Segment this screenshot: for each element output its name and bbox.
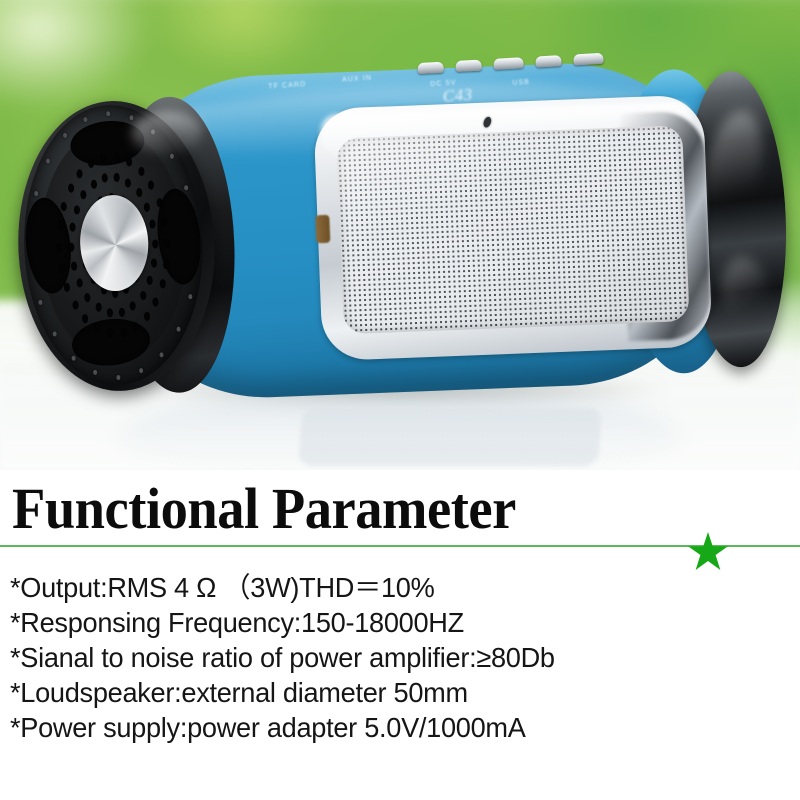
bluetooth-speaker: TF CARD AUX IN DC 5V USB C43 bbox=[12, 47, 792, 416]
power-button[interactable] bbox=[417, 62, 444, 74]
play-pause-button[interactable] bbox=[535, 55, 562, 67]
mode-button[interactable] bbox=[455, 60, 482, 72]
product-spec-page: TF CARD AUX IN DC 5V USB C43 Functional … bbox=[0, 0, 800, 800]
port-label-usb: USB bbox=[512, 79, 530, 87]
speaker-grille-reflection bbox=[298, 408, 602, 466]
spec-line-power: *Power supply:power adapter 5.0V/1000mA bbox=[10, 710, 767, 745]
spec-line-output: *Output:RMS 4 Ω （3W)THD＝10% bbox=[10, 570, 767, 605]
spec-line-frequency: *Responsing Frequency:150-18000HZ bbox=[10, 605, 767, 640]
spec-list: *Output:RMS 4 Ω （3W)THD＝10% *Responsing … bbox=[10, 570, 790, 745]
spec-line-loudspeaker: *Loudspeaker:external diameter 50mm bbox=[10, 675, 767, 710]
product-photo: TF CARD AUX IN DC 5V USB C43 bbox=[0, 0, 800, 470]
perforated-grille bbox=[336, 125, 689, 334]
star-icon bbox=[688, 532, 728, 572]
spec-line-snr: *Sianal to noise ratio of power amplifie… bbox=[10, 640, 767, 675]
side-port bbox=[315, 215, 330, 244]
page-title: Functional Parameter bbox=[12, 480, 516, 538]
title-underline bbox=[0, 545, 800, 547]
previous-button[interactable] bbox=[493, 57, 524, 70]
spec-text-area: Functional Parameter *Output:RMS 4 Ω （3W… bbox=[0, 470, 800, 800]
brand-mark: C43 bbox=[442, 85, 473, 107]
next-button[interactable] bbox=[573, 53, 604, 66]
